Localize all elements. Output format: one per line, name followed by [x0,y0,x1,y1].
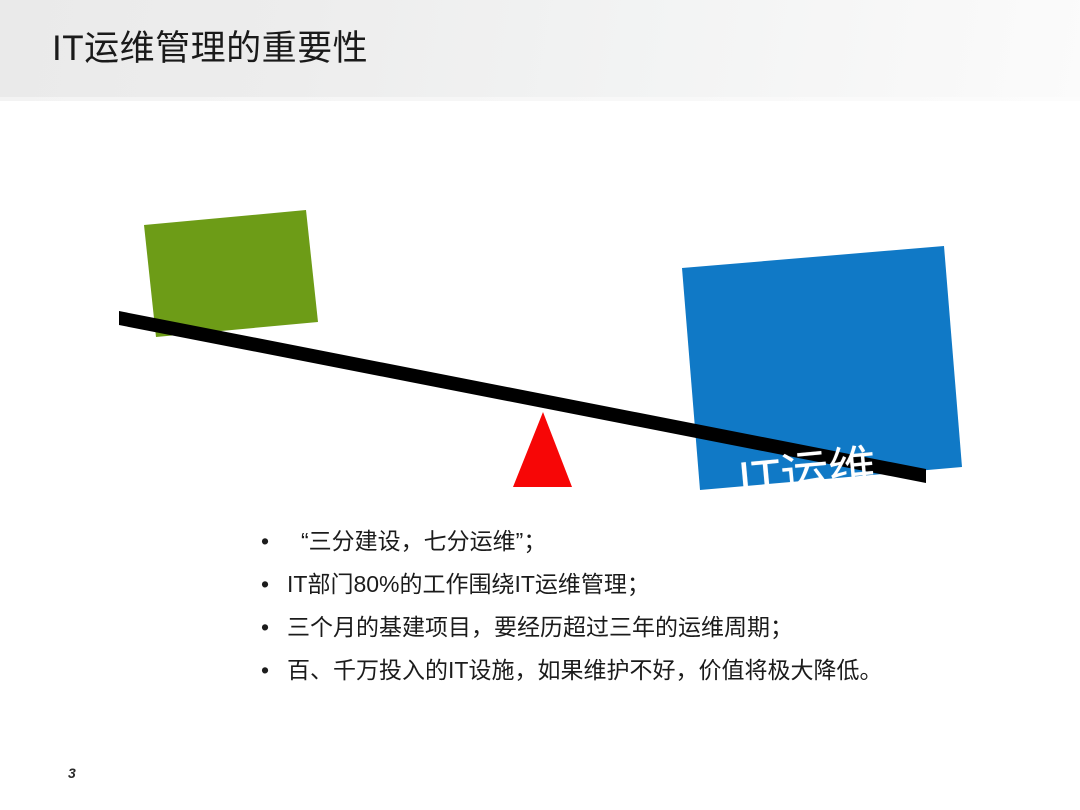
bullet-text: 三个月的基建项目，要经历超过三年的运维周期； [287,610,793,644]
bullet-marker-icon: • [255,610,287,644]
list-item: • 三个月的基建项目，要经历超过三年的运维周期； [255,610,1045,653]
bullet-text: “三分建设，七分运维”； [287,524,546,558]
green-box-shape [144,210,318,337]
slide-canvas: IT运维管理的重要性 IT建设 IT运维 • “ [0,0,1080,810]
balance-scale-diagram: IT建设 IT运维 [0,100,1080,520]
bullet-text: 百、千万投入的IT设施，如果维护不好，价值将极大降低。 [287,653,882,687]
fulcrum-shape [513,412,572,487]
balance-scale-svg [0,100,1080,520]
red-triangle-fulcrum [513,412,572,487]
page-title: IT运维管理的重要性 [52,25,368,73]
bullet-text: IT部门80%的工作围绕IT运维管理； [287,567,650,601]
bullet-marker-icon: • [255,653,287,687]
blue-box-label: IT运维 [735,428,879,510]
green-box-group [144,210,318,337]
list-item: • “三分建设，七分运维”； [255,524,1045,567]
list-item: • IT部门80%的工作围绕IT运维管理； [255,567,1045,610]
bullet-marker-icon: • [255,524,287,558]
list-item: • 百、千万投入的IT设施，如果维护不好，价值将极大降低。 [255,653,1045,696]
green-box-label: IT建设 [166,342,259,395]
page-number: 3 [68,765,76,781]
bullet-marker-icon: • [255,567,287,601]
bullet-list: • “三分建设，七分运维”； • IT部门80%的工作围绕IT运维管理； • 三… [255,524,1045,696]
